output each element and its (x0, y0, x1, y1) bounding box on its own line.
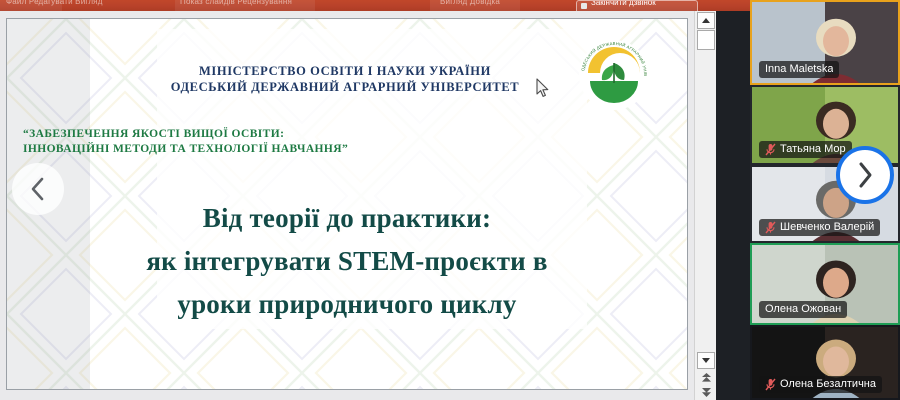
slide-title: Від теорії до практики: як інтегрувати S… (77, 197, 617, 326)
slide-title-line-1: Від теорії до практики: (77, 197, 617, 240)
application-toolbar: Файл Редагувати Вигляд Показ слайдів Рец… (0, 0, 750, 11)
slide-heading-line-1: МІНІСТЕРСТВО ОСВІТИ І НАУКИ УКРАЇНИ (135, 63, 555, 79)
participant-name: Inna Maletska (765, 61, 833, 78)
end-call-icon (581, 3, 587, 9)
next-button[interactable] (836, 146, 894, 204)
university-emblem: ОДЕСЬКИЙ ДЕРЖАВНИЙ АГРАРНИЙ УНІВЕРСИТЕТ (578, 39, 650, 111)
participant-name-badge: Олена Ожован (759, 301, 847, 318)
next-slide-button[interactable] (700, 386, 712, 398)
chevron-left-icon (28, 176, 48, 202)
slide-title-line-2: як інтегрувати STEM-проєкти в (77, 240, 617, 283)
microphone-muted-icon (765, 143, 776, 156)
toolbar-menu-fragment-3[interactable]: Вигляд Довідка (440, 0, 500, 6)
slide-subtitle-line-2: ІННОВАЦІЙНІ МЕТОДИ ТА ТЕХНОЛОГІЇ НАВЧАНН… (23, 142, 423, 157)
triangle-down-icon (702, 358, 710, 363)
presentation-slide[interactable]: ОДЕСЬКИЙ ДЕРЖАВНИЙ АГРАРНИЙ УНІВЕРСИТЕТ … (6, 18, 688, 390)
participant-name-badge: Шевченко Валерій (759, 219, 880, 236)
participant-tile[interactable]: Inna Maletska (750, 0, 900, 85)
scroll-down-button[interactable] (697, 352, 715, 369)
double-triangle-down-icon (701, 387, 712, 398)
toolbar-menu-fragment-1[interactable]: Файл Редагувати Вигляд (6, 0, 103, 6)
triangle-up-icon (702, 18, 710, 23)
slide-subtitle: “ЗАБЕЗПЕЧЕННЯ ЯКОСТІ ВИЩОЇ ОСВІТИ: ІННОВ… (23, 127, 423, 157)
vertical-scrollbar[interactable] (694, 11, 716, 400)
participant-name: Татьяна Мор (780, 141, 846, 158)
scroll-up-button[interactable] (697, 12, 715, 29)
slide-subtitle-line-1: “ЗАБЕЗПЕЧЕННЯ ЯКОСТІ ВИЩОЇ ОСВІТИ: (23, 127, 423, 142)
scrollbar-thumb[interactable] (697, 30, 715, 50)
slide-heading-line-2: ОДЕСЬКИЙ ДЕРЖАВНИЙ АГРАРНИЙ УНІВЕРСИТЕТ (135, 79, 555, 95)
microphone-muted-icon (765, 378, 776, 391)
mouse-cursor (536, 78, 550, 98)
previous-slide-button[interactable] (700, 371, 712, 383)
scrollbar-track[interactable] (697, 51, 715, 351)
participant-name-badge: Inna Maletska (759, 61, 839, 78)
participant-name-badge: Олена Безалтична (759, 376, 882, 393)
shared-screen-region[interactable]: ОДЕСЬКИЙ ДЕРЖАВНИЙ АГРАРНИЙ УНІВЕРСИТЕТ … (0, 11, 694, 400)
participant-tile[interactable]: Олена Ожован (750, 243, 900, 325)
participant-name-badge: Татьяна Мор (759, 141, 852, 158)
panel-divider (716, 11, 750, 400)
slide-heading: МІНІСТЕРСТВО ОСВІТИ І НАУКИ УКРАЇНИ ОДЕС… (135, 63, 555, 95)
chevron-right-icon (854, 161, 876, 189)
toolbar-menu-fragment-2[interactable]: Показ слайдів Рецензування (180, 0, 292, 6)
participant-name: Олена Безалтична (780, 376, 876, 393)
previous-button[interactable] (12, 163, 64, 215)
participant-tile[interactable]: Олена Безалтична (750, 325, 900, 400)
double-triangle-up-icon (701, 372, 712, 383)
conference-screen: Файл Редагувати Вигляд Показ слайдів Рец… (0, 0, 900, 400)
microphone-muted-icon (765, 221, 776, 234)
end-call-label: Закінчити дзвінок (591, 0, 656, 7)
participant-name: Шевченко Валерій (780, 219, 874, 236)
participant-name: Олена Ожован (765, 301, 841, 318)
slide-title-line-3: уроки природничого циклу (77, 283, 617, 326)
end-call-button[interactable]: Закінчити дзвінок (576, 0, 698, 11)
